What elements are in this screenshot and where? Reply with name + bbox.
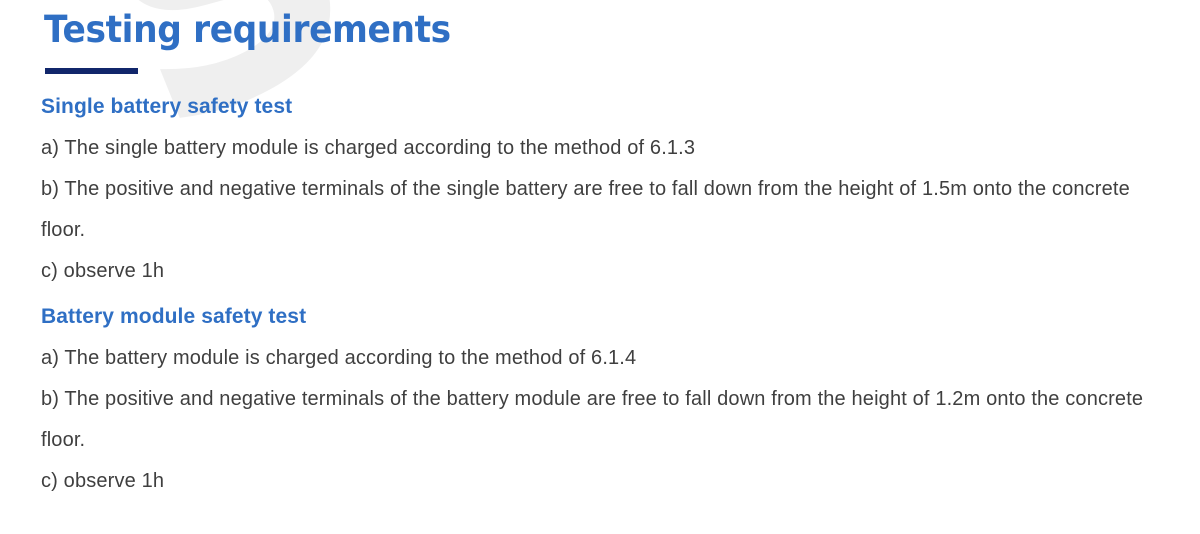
section-single-battery-safety-test: Single battery safety test a) The single… <box>41 94 1171 292</box>
section-heading: Battery module safety test <box>41 304 1171 330</box>
body-line: b) The positive and negative terminals o… <box>41 169 1171 251</box>
body-line: a) The single battery module is charged … <box>41 128 1171 169</box>
title-underline-rule <box>45 68 138 74</box>
body-line: c) observe 1h <box>41 251 1171 292</box>
body-line: c) observe 1h <box>41 461 1171 502</box>
section-heading: Single battery safety test <box>41 94 1171 120</box>
section-battery-module-safety-test: Battery module safety test a) The batter… <box>41 304 1171 502</box>
body-line: b) The positive and negative terminals o… <box>41 379 1171 461</box>
body-line: a) The battery module is charged accordi… <box>41 338 1171 379</box>
document-page: SWORD Testing requirements Single batter… <box>0 0 1200 534</box>
page-title: Testing requirements <box>44 9 451 52</box>
